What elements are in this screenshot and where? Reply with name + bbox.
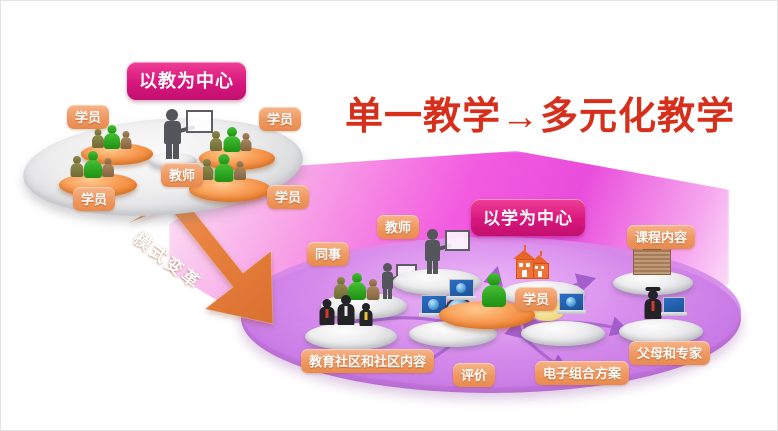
student-label-bottom-left: 学员 — [73, 187, 115, 211]
badge-teaching-centered: 以教为中心 — [127, 62, 246, 100]
pedestal-eportfolio — [521, 321, 605, 346]
school-icon-secondary — [531, 251, 559, 283]
node-label-learner-hub: 学员 — [515, 287, 557, 311]
teacher-icon-left — [157, 109, 209, 159]
community-figure-3 — [357, 303, 375, 328]
learner-hub-figure — [481, 273, 507, 307]
node-label-teacher: 教师 — [377, 215, 419, 239]
page-title: 单一教学→多元化教学 — [345, 85, 735, 140]
student-figure — [209, 131, 223, 151]
student-label-bottom-right: 学员 — [267, 185, 309, 209]
laptop-icon-hub — [447, 279, 479, 304]
student-figure — [83, 151, 103, 178]
node-label-colleagues: 同事 — [307, 242, 349, 266]
badge-learning-centered: 以学为中心 — [471, 199, 585, 236]
student-figure — [101, 158, 115, 177]
office-building-icon — [633, 247, 671, 275]
node-label-assessment: 评价 — [453, 363, 495, 387]
student-label-top-right: 学员 — [259, 107, 301, 131]
student-figure — [233, 161, 247, 180]
community-figure-2 — [335, 295, 357, 327]
teacher-icon — [419, 229, 467, 275]
student-figure — [119, 131, 132, 149]
laptop-icon-expert — [661, 297, 691, 319]
student-figure — [239, 133, 252, 151]
student-label-top-left: 学员 — [67, 105, 109, 129]
teacher-label-left: 教师 — [161, 163, 203, 187]
node-label-community: 教育社区和社区内容 — [301, 349, 434, 373]
node-label-eportfolio: 电子组合方案 — [535, 361, 629, 385]
node-label-parents-expert: 父母和专家 — [629, 341, 710, 365]
laptop-icon-eportfolio — [557, 293, 589, 319]
student-figure — [69, 156, 84, 177]
student-figure — [213, 154, 234, 182]
node-label-curriculum: 课程内容 — [627, 225, 695, 249]
infographic-canvas: 单一教学→多元化教学 — [0, 0, 778, 431]
